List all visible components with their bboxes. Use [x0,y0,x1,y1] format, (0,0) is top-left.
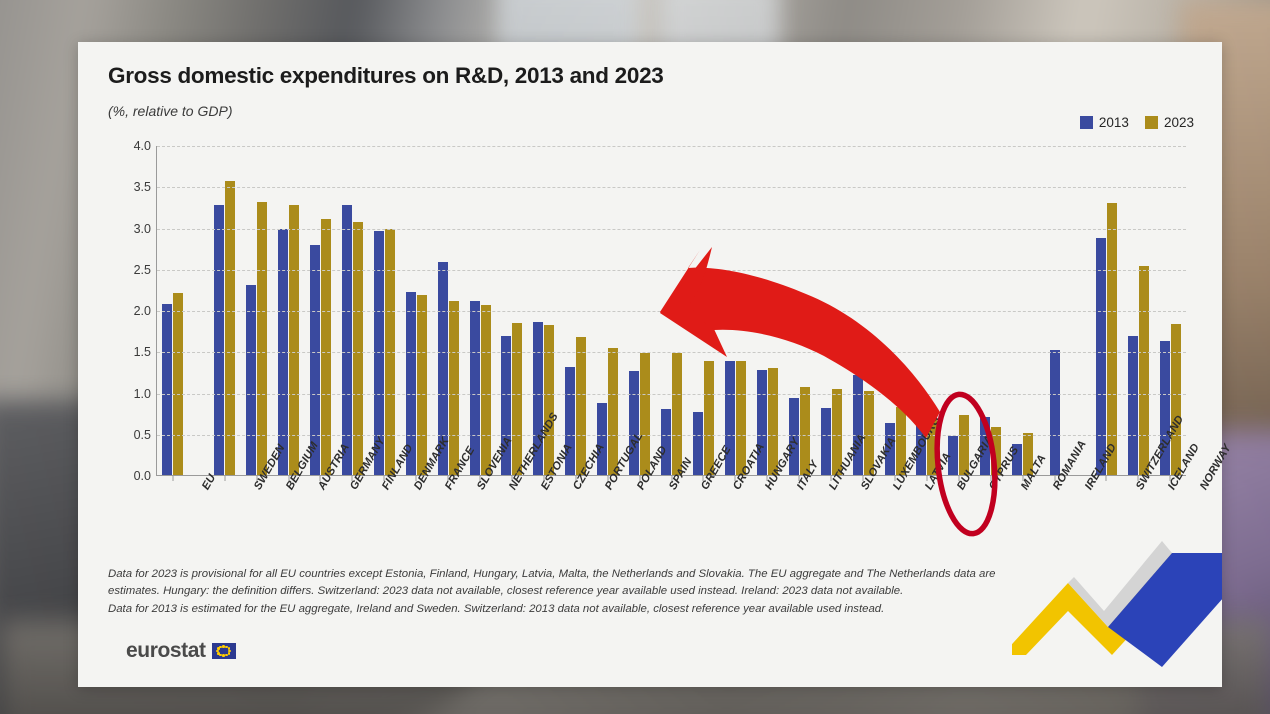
bar-slovenia-2023 [449,301,459,476]
chart-legend: 20132023 [1080,115,1194,130]
y-axis-tick-label: 3.5 [134,180,151,194]
bar-greece-2013 [661,409,671,476]
y-axis-tick-label: 2.0 [134,304,151,318]
zigzag-decoration [1012,527,1222,687]
bar-finland-2023 [353,222,363,476]
footnote-line-2: estimates. Hungary: the definition diffe… [108,583,1058,600]
gridline [157,394,1186,395]
bar-netherlands-2023 [481,305,491,476]
gridline [157,352,1186,353]
bar-czechia-2023 [544,325,554,476]
gridline [157,229,1186,230]
legend-swatch-icon [1145,116,1158,129]
bar-norway-2023 [1171,324,1181,476]
bar-estonia-2023 [512,323,522,476]
bar-poland-2013 [597,403,607,476]
gridline [157,435,1186,436]
footnote-line-3: Data for 2013 is estimated for the EU ag… [108,601,1058,618]
y-axis-tick-label: 4.0 [134,139,151,153]
bar-croatia-2013 [693,412,703,476]
bar-switzerland-2013 [1096,238,1106,476]
gridline [157,270,1186,271]
y-axis-tick-label: 1.0 [134,387,151,401]
eu-flag-icon [212,643,236,659]
bar-poland-2023 [608,348,618,476]
plot-inner: 0.00.51.01.52.02.53.03.54.0 [156,146,1186,476]
gridline [157,311,1186,312]
bar-greece-2023 [672,353,682,476]
footnote: Data for 2023 is provisional for all EU … [108,566,1058,618]
legend-label: 2023 [1164,115,1194,130]
page-title: Gross domestic expenditures on R&D, 2013… [108,63,664,89]
legend-label: 2013 [1099,115,1129,130]
legend-item-2023: 2023 [1145,115,1194,130]
gridline [157,187,1186,188]
bar-eu-2023 [173,293,183,476]
bar-germany-2023 [321,219,331,476]
footnote-line-1: Data for 2023 is provisional for all EU … [108,566,1058,583]
eurostat-wordmark: eurostat [126,639,206,663]
eurostat-logo: eurostat [126,639,236,663]
y-axis-tick-label: 0.0 [134,469,151,483]
chart-subtitle: (%, relative to GDP) [108,103,232,119]
legend-swatch-icon [1080,116,1093,129]
bar-sweden-2023 [225,181,235,476]
bar-iceland-2013 [1128,336,1138,476]
bar-spain-2023 [640,353,650,476]
bar-italy-2023 [768,368,778,476]
bar-slovakia-2013 [821,408,831,476]
legend-item-2013: 2013 [1080,115,1129,130]
chart-plot-area: 0.00.51.01.52.02.53.03.54.0 [126,146,1186,476]
bar-croatia-2023 [704,361,714,476]
bar-portugal-2023 [576,337,586,476]
bar-eu-2013 [162,304,172,476]
bar-france-2023 [417,295,427,476]
bar-ireland-2013 [1050,350,1060,476]
bar-iceland-2023 [1139,266,1149,476]
y-axis-tick-label: 3.0 [134,222,151,236]
bar-hungary-2023 [736,361,746,476]
y-axis-tick-label: 0.5 [134,428,151,442]
bar-belgium-2013 [246,285,256,476]
y-axis-tick-label: 2.5 [134,263,151,277]
gridline [157,146,1186,147]
y-axis-tick-label: 1.5 [134,345,151,359]
chart-card: Gross domestic expenditures on R&D, 2013… [78,42,1222,687]
